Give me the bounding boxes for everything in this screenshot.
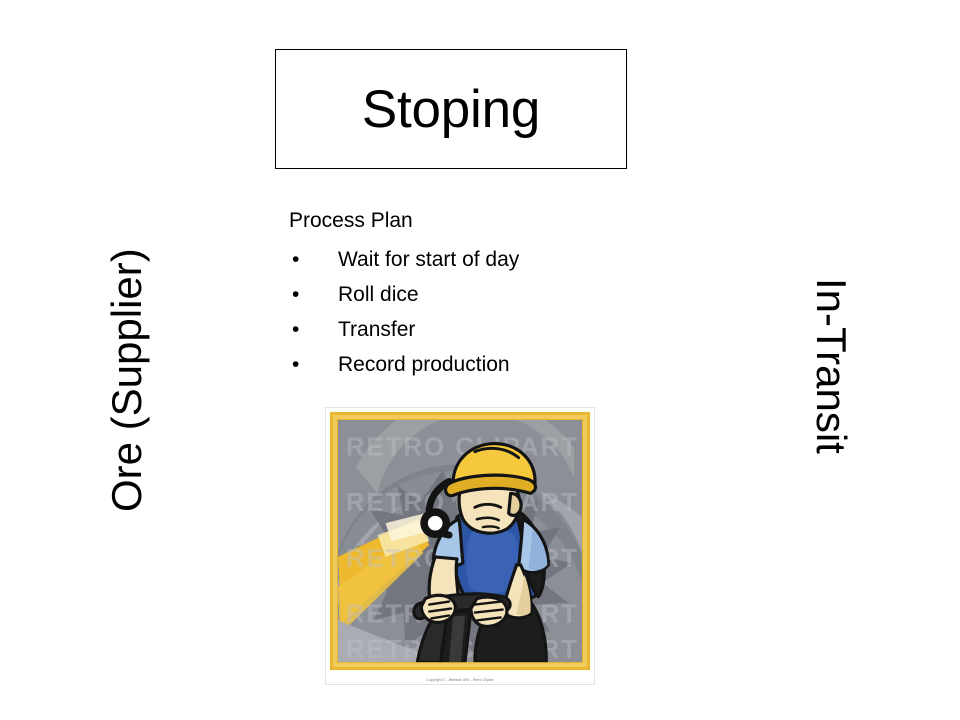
- bullet-icon: •: [292, 277, 299, 312]
- miner-jackhammer-clipart: RETRO CLIPART RETRO CLIPART RETRO CLIPAR…: [325, 407, 595, 685]
- lane-label-in-transit: In-Transit: [800, 278, 852, 508]
- list-item-label: Roll dice: [338, 283, 419, 306]
- process-plan-list: • Wait for start of day • Roll dice • Tr…: [289, 242, 619, 382]
- bullet-icon: •: [292, 347, 299, 382]
- bullet-icon: •: [292, 242, 299, 277]
- miner-with-jackhammer-icon: RETRO CLIPART RETRO CLIPART RETRO CLIPAR…: [326, 408, 594, 684]
- page-title: Stoping: [362, 83, 540, 136]
- list-item: • Record production: [289, 347, 619, 382]
- process-plan-heading: Process Plan: [289, 208, 619, 234]
- lane-label-ore-supplier: Ore (Supplier): [106, 192, 158, 512]
- list-item: • Wait for start of day: [289, 242, 619, 277]
- clipart-caption: Copyright © - Website URL - Retro Clipar…: [326, 678, 594, 683]
- list-item-label: Record production: [338, 353, 510, 376]
- bullet-icon: •: [292, 312, 299, 347]
- process-plan-block: Process Plan • Wait for start of day • R…: [289, 208, 619, 382]
- list-item: • Roll dice: [289, 277, 619, 312]
- list-item-label: Transfer: [338, 318, 415, 341]
- title-box: Stoping: [275, 49, 627, 169]
- list-item-label: Wait for start of day: [338, 248, 519, 271]
- list-item: • Transfer: [289, 312, 619, 347]
